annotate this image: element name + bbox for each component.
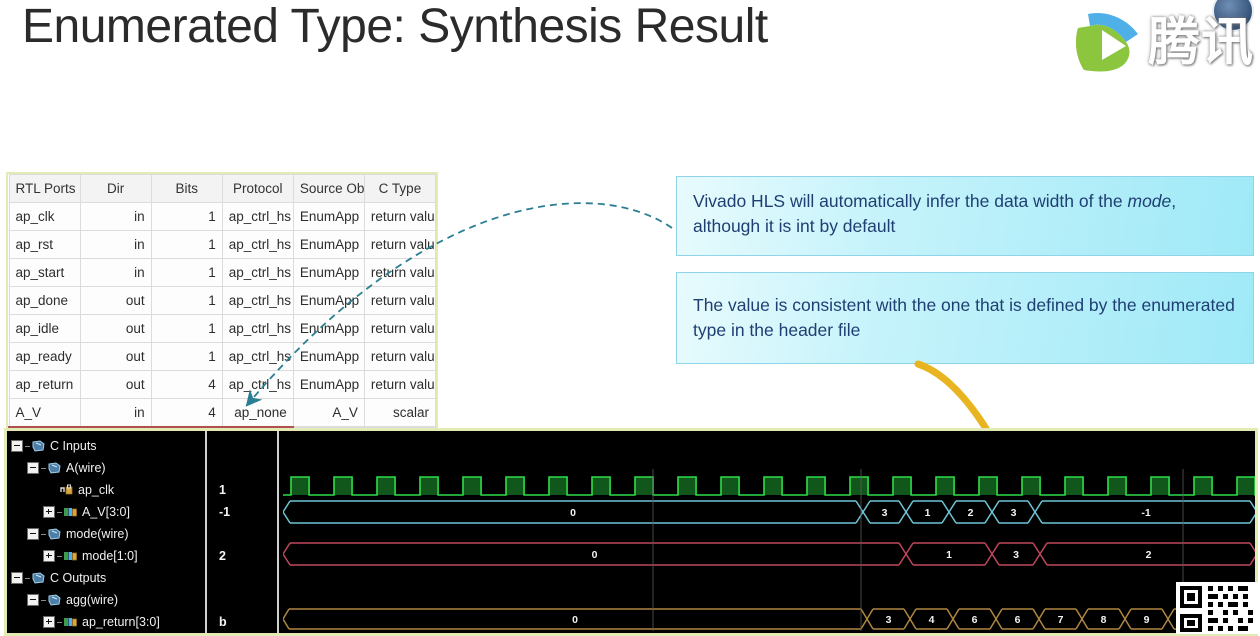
tree-connector bbox=[25, 578, 30, 579]
cell-source: EnumApp bbox=[293, 343, 364, 371]
cell-dir: in bbox=[80, 399, 151, 428]
play-triangle-icon bbox=[1072, 8, 1144, 78]
expand-icon[interactable] bbox=[43, 506, 55, 518]
cell-dir: in bbox=[80, 231, 151, 259]
signal-value-ap-return-3-0-: b bbox=[219, 615, 227, 629]
tree-item-ap-clk[interactable]: ap_clk bbox=[11, 479, 205, 501]
rtl-ports-table: RTL Ports Dir Bits Protocol Source Objec… bbox=[6, 172, 438, 459]
signal-value-mode-1-0-: 2 bbox=[219, 549, 226, 563]
waveform-svg: 03123-1013203466789 bbox=[283, 431, 1258, 633]
cell-bits: 1 bbox=[151, 231, 222, 259]
bus-value-label: 4 bbox=[929, 614, 935, 626]
table-row[interactable]: ap_doneout1ap_ctrl_hsEnumAppreturn value bbox=[9, 287, 436, 315]
bus-value-label: -1 bbox=[1141, 507, 1150, 519]
bus-value-label: 3 bbox=[886, 614, 892, 626]
callout-data-width: Vivado HLS will automatically infer the … bbox=[676, 176, 1254, 256]
cell-dir: out bbox=[80, 371, 151, 399]
bus-value-label: 3 bbox=[882, 507, 888, 519]
tree-item-label: agg(wire) bbox=[66, 593, 118, 607]
collapse-icon[interactable] bbox=[27, 462, 39, 474]
tree-item-mode-1-0-[interactable]: mode[1:0] bbox=[11, 545, 205, 567]
table-row[interactable]: ap_returnout4ap_ctrl_hsEnumAppreturn val… bbox=[9, 371, 436, 399]
module-icon bbox=[32, 572, 45, 584]
qr-code-watermark bbox=[1176, 582, 1258, 634]
mode-waveform: 0132 bbox=[283, 543, 1257, 565]
cell-bits: 1 bbox=[151, 287, 222, 315]
table-row[interactable]: ap_rstin1ap_ctrl_hsEnumAppreturn value bbox=[9, 231, 436, 259]
tree-connector bbox=[57, 622, 62, 623]
cell-protocol: ap_ctrl_hs bbox=[222, 287, 293, 315]
cell-protocol: ap_ctrl_hs bbox=[222, 343, 293, 371]
bus-value-label: 0 bbox=[570, 507, 576, 519]
table-row[interactable]: ap_clkin1ap_ctrl_hsEnumAppreturn value bbox=[9, 203, 436, 231]
cell-ctype: return value bbox=[364, 259, 435, 287]
cell-port: ap_done bbox=[9, 287, 80, 315]
tree-item-ap-return-3-0-[interactable]: ap_return[3:0] bbox=[11, 611, 205, 633]
cell-protocol: ap_ctrl_hs bbox=[222, 259, 293, 287]
cell-ctype: return value bbox=[364, 287, 435, 315]
tree-item-c-outputs[interactable]: C Outputs bbox=[11, 567, 205, 589]
bus-value-label: 2 bbox=[1146, 549, 1152, 561]
collapse-icon[interactable] bbox=[11, 440, 23, 452]
tree-connector bbox=[57, 556, 62, 557]
tencent-video-logo: 腾讯 bbox=[1064, 0, 1260, 88]
module-icon bbox=[48, 594, 61, 606]
signal-tree-panel[interactable]: C InputsA(wire)ap_clkA_V[3:0]mode(wire)m… bbox=[7, 431, 207, 633]
cell-source: A_V bbox=[293, 399, 364, 428]
tree-item-label: ap_return[3:0] bbox=[82, 615, 160, 629]
tree-item-label: mode(wire) bbox=[66, 527, 129, 541]
bus-value-label: 8 bbox=[1101, 614, 1107, 626]
tree-connector bbox=[41, 600, 46, 601]
bus-icon bbox=[64, 616, 77, 628]
cell-port: A_V bbox=[9, 399, 80, 428]
clock-icon bbox=[60, 484, 73, 496]
cell-source: EnumApp bbox=[293, 231, 364, 259]
table-header-row: RTL Ports Dir Bits Protocol Source Objec… bbox=[9, 175, 436, 203]
cell-bits: 4 bbox=[151, 399, 222, 428]
bus-icon bbox=[64, 506, 77, 518]
cell-source: EnumApp bbox=[293, 203, 364, 231]
tree-item-label: A(wire) bbox=[66, 461, 106, 475]
qr-code-icon bbox=[1176, 582, 1258, 634]
collapse-icon[interactable] bbox=[27, 528, 39, 540]
bus-value-label: 0 bbox=[592, 549, 598, 561]
callout-2-text: The value is consistent with the one tha… bbox=[693, 295, 1235, 340]
callout-1-emphasis: mode bbox=[1128, 191, 1172, 211]
module-icon bbox=[32, 440, 45, 452]
bus-value-label: 6 bbox=[1015, 614, 1021, 626]
col-source-object: Source Object bbox=[293, 175, 364, 203]
signal-value-ap-clk: 1 bbox=[219, 483, 226, 497]
page-title: Enumerated Type: Synthesis Result bbox=[22, 0, 768, 58]
tree-connector bbox=[25, 446, 30, 447]
cell-protocol: ap_none bbox=[222, 399, 293, 428]
bus-value-label: 7 bbox=[1058, 614, 1064, 626]
cell-protocol: ap_ctrl_hs bbox=[222, 203, 293, 231]
waveform-canvas[interactable]: 03123-1013203466789 bbox=[283, 431, 1251, 633]
cell-dir: out bbox=[80, 287, 151, 315]
tree-item-label: ap_clk bbox=[78, 483, 114, 497]
cell-port: ap_return bbox=[9, 371, 80, 399]
bus-value-label: 9 bbox=[1144, 614, 1150, 626]
bus-value-label: 0 bbox=[572, 614, 578, 626]
callout-1-text-before: Vivado HLS will automatically infer the … bbox=[693, 191, 1128, 211]
tree-item-c-inputs[interactable]: C Inputs bbox=[11, 435, 205, 457]
expand-icon[interactable] bbox=[43, 616, 55, 628]
signal-value-column: 1-12b bbox=[209, 431, 279, 633]
brand-name-text: 腾讯 bbox=[1148, 12, 1254, 74]
cell-ctype: return value bbox=[364, 371, 435, 399]
cell-dir: in bbox=[80, 259, 151, 287]
cell-protocol: ap_ctrl_hs bbox=[222, 231, 293, 259]
callout-enum-value: The value is consistent with the one tha… bbox=[676, 272, 1254, 364]
cell-ctype: return value bbox=[364, 343, 435, 371]
bus-value-label: 2 bbox=[968, 507, 974, 519]
module-icon bbox=[48, 462, 61, 474]
module-icon bbox=[48, 528, 61, 540]
signal-value-a-v-3-0-: -1 bbox=[219, 505, 230, 519]
col-rtl-ports: RTL Ports bbox=[9, 175, 80, 203]
tree-item-a-wire-[interactable]: A(wire) bbox=[11, 457, 205, 479]
cell-source: EnumApp bbox=[293, 259, 364, 287]
bus-value-label: 6 bbox=[972, 614, 978, 626]
col-bits: Bits bbox=[151, 175, 222, 203]
cell-port: ap_ready bbox=[9, 343, 80, 371]
cell-dir: out bbox=[80, 315, 151, 343]
cell-source: EnumApp bbox=[293, 287, 364, 315]
expand-icon[interactable] bbox=[43, 550, 55, 562]
cell-source: EnumApp bbox=[293, 371, 364, 399]
tree-connector bbox=[57, 512, 62, 513]
tree-connector bbox=[41, 534, 46, 535]
cell-bits: 1 bbox=[151, 343, 222, 371]
tree-item-label: mode[1:0] bbox=[82, 549, 138, 563]
cell-port: ap_rst bbox=[9, 231, 80, 259]
bus-icon bbox=[64, 550, 77, 562]
col-c-type: C Type bbox=[364, 175, 435, 203]
cell-protocol: ap_ctrl_hs bbox=[222, 371, 293, 399]
tree-connector bbox=[41, 468, 46, 469]
bus-value-label: 3 bbox=[1011, 507, 1017, 519]
tree-item-mode-wire-[interactable]: mode(wire) bbox=[11, 523, 205, 545]
tree-item-label: C Outputs bbox=[50, 571, 106, 585]
cell-source: EnumApp bbox=[293, 315, 364, 343]
bus-value-label: 1 bbox=[946, 549, 952, 561]
cell-ctype: scalar bbox=[364, 399, 435, 428]
cell-bits: 1 bbox=[151, 203, 222, 231]
ap-clk-waveform bbox=[283, 477, 1258, 495]
bus-value-label: 3 bbox=[1013, 549, 1019, 561]
table-row[interactable]: A_Vin4ap_noneA_Vscalar bbox=[9, 399, 436, 428]
collapse-icon[interactable] bbox=[27, 594, 39, 606]
tree-item-agg-wire-[interactable]: agg(wire) bbox=[11, 589, 205, 611]
table-row[interactable]: ap_readyout1ap_ctrl_hsEnumAppreturn valu… bbox=[9, 343, 436, 371]
cell-port: ap_start bbox=[9, 259, 80, 287]
col-protocol: Protocol bbox=[222, 175, 293, 203]
tree-item-label: A_V[3:0] bbox=[82, 505, 130, 519]
table-row[interactable]: ap_startin1ap_ctrl_hsEnumAppreturn value bbox=[9, 259, 436, 287]
cell-ctype: return value bbox=[364, 231, 435, 259]
collapse-icon[interactable] bbox=[11, 572, 23, 584]
cell-port: ap_idle bbox=[9, 315, 80, 343]
ap-return-waveform: 03466789 bbox=[283, 609, 1257, 629]
cell-bits: 1 bbox=[151, 259, 222, 287]
cell-dir: in bbox=[80, 203, 151, 231]
cell-dir: out bbox=[80, 343, 151, 371]
cell-bits: 1 bbox=[151, 315, 222, 343]
cell-port: ap_clk bbox=[9, 203, 80, 231]
cell-bits: 4 bbox=[151, 371, 222, 399]
a-v-waveform: 03123-1 bbox=[283, 501, 1257, 523]
table-row[interactable]: ap_idleout1ap_ctrl_hsEnumAppreturn value bbox=[9, 315, 436, 343]
tree-item-label: C Inputs bbox=[50, 439, 97, 453]
col-dir: Dir bbox=[80, 175, 151, 203]
bus-value-label: 1 bbox=[925, 507, 931, 519]
cell-protocol: ap_ctrl_hs bbox=[222, 315, 293, 343]
waveform-viewer[interactable]: C InputsA(wire)ap_clkA_V[3:0]mode(wire)m… bbox=[4, 428, 1258, 636]
cell-ctype: return value bbox=[364, 315, 435, 343]
cell-ctype: return value bbox=[364, 203, 435, 231]
tree-item-a-v-3-0-[interactable]: A_V[3:0] bbox=[11, 501, 205, 523]
